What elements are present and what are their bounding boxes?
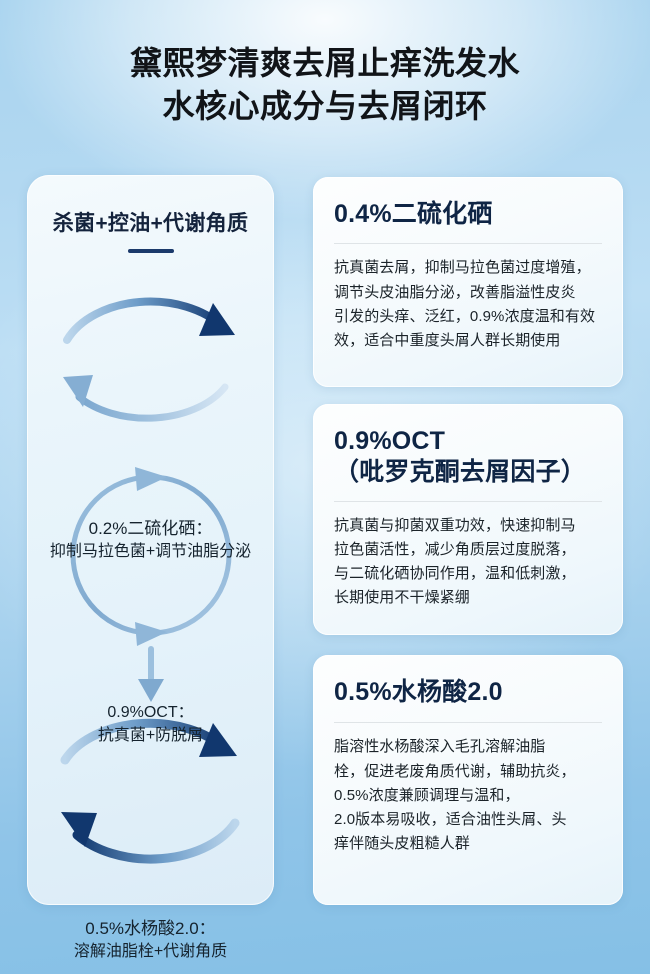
title-line-2: 水核心成分与去屑闭环 xyxy=(0,85,650,128)
card-1-body-line-3: 长期使用不干燥紧绷 xyxy=(334,586,602,610)
connector-arc-top xyxy=(67,302,235,340)
card-1-title-line2: （吡罗克酮去屑因子） xyxy=(334,457,602,488)
card-0-body: 抗真菌去屑，抑制马拉色菌过度增殖， 调节头皮油脂分泌，改善脂溢性皮炎 引发的头痒… xyxy=(334,256,602,353)
card-0-body-line-0: 抗真菌去屑，抑制马拉色菌过度增殖， xyxy=(334,256,602,280)
card-2-body-line-2: 0.5%浓度兼顾调理与温和， xyxy=(334,784,602,808)
card-2-body-line-0: 脂溶性水杨酸深入毛孔溶解油脂 xyxy=(334,735,602,759)
connector-arc-middle xyxy=(63,375,225,418)
card-selenium-sulfide: 0.4%二硫化硒 抗真菌去屑，抑制马拉色菌过度增殖， 调节头皮油脂分泌，改善脂溢… xyxy=(313,177,623,387)
card-1-title-line1: 0.9%OCT xyxy=(334,427,445,455)
card-1-title: 0.9%OCT （吡罗克酮去屑因子） xyxy=(334,426,602,489)
card-2-body-line-1: 栓，促进老废角质代谢，辅助抗炎， xyxy=(334,760,602,784)
card-0-body-line-3: 效，适合中重度头屑人群长期使用 xyxy=(334,329,602,353)
content-stage: 杀菌+控油+代谢角质 xyxy=(0,0,650,974)
page-title: 黛熙梦清爽去屑止痒洗发水 水核心成分与去屑闭环 xyxy=(0,42,650,127)
ingredient-flow-panel: 杀菌+控油+代谢角质 xyxy=(27,175,274,905)
card-2-body-line-4: 痒伴随头皮粗糙人群 xyxy=(334,832,602,856)
card-2-body: 脂溶性水杨酸深入毛孔溶解油脂 栓，促进老废角质代谢，辅助抗炎， 0.5%浓度兼顾… xyxy=(334,735,602,856)
flow-step-0-line1: 0.2%二硫化硒： xyxy=(27,517,274,541)
connector-down-arrow xyxy=(138,649,164,702)
flow-step-0-line2: 抑制马拉色菌+调节油脂分泌 xyxy=(27,541,274,564)
flow-step-1-line2: 抗真菌+防脱屑 xyxy=(27,725,274,748)
card-2-divider xyxy=(334,722,602,723)
card-1-body: 抗真菌与抑菌双重功效，快速抑制马 拉色菌活性，减少角质层过度脱落， 与二硫化硒协… xyxy=(334,514,602,611)
card-0-title-line1: 0.4%二硫化硒 xyxy=(334,200,493,228)
card-0-divider xyxy=(334,243,602,244)
card-2-title: 0.5%水杨酸2.0 xyxy=(334,677,602,708)
card-0-body-line-1: 调节头皮油脂分泌，改善脂溢性皮炎 xyxy=(334,281,602,305)
flow-step-2-line2: 溶解油脂栓+代谢角质 xyxy=(27,941,274,964)
card-1-divider xyxy=(334,501,602,502)
card-0-body-line-2: 引发的头痒、泛红，0.9%浓度温和有效 xyxy=(334,305,602,329)
card-oct: 0.9%OCT （吡罗克酮去屑因子） 抗真菌与抑菌双重功效，快速抑制马 拉色菌活… xyxy=(313,404,623,635)
card-2-title-line1: 0.5%水杨酸2.0 xyxy=(334,678,503,706)
flow-step-selenium-sulfide: 0.2%二硫化硒： 抑制马拉色菌+调节油脂分泌 xyxy=(27,517,274,564)
flow-step-2-line1: 0.5%水杨酸2.0： xyxy=(27,917,274,941)
card-2-body-line-3: 2.0版本易吸收，适合油性头屑、头 xyxy=(334,808,602,832)
card-0-title: 0.4%二硫化硒 xyxy=(334,199,602,230)
flow-step-salicylic-acid: 0.5%水杨酸2.0： 溶解油脂栓+代谢角质 xyxy=(27,917,274,964)
card-1-body-line-1: 拉色菌活性，减少角质层过度脱落， xyxy=(334,538,602,562)
card-salicylic-acid: 0.5%水杨酸2.0 脂溶性水杨酸深入毛孔溶解油脂 栓，促进老废角质代谢，辅助抗… xyxy=(313,655,623,905)
flow-step-1-line1: 0.9%OCT： xyxy=(27,702,274,725)
card-1-body-line-2: 与二硫化硒协同作用，温和低刺激， xyxy=(334,562,602,586)
card-1-body-line-0: 抗真菌与抑菌双重功效，快速抑制马 xyxy=(334,514,602,538)
connector-arc-lower-bottom xyxy=(61,812,235,859)
title-line-1: 黛熙梦清爽去屑止痒洗发水 xyxy=(0,42,650,85)
flow-step-oct: 0.9%OCT： 抗真菌+防脱屑 xyxy=(27,702,274,747)
